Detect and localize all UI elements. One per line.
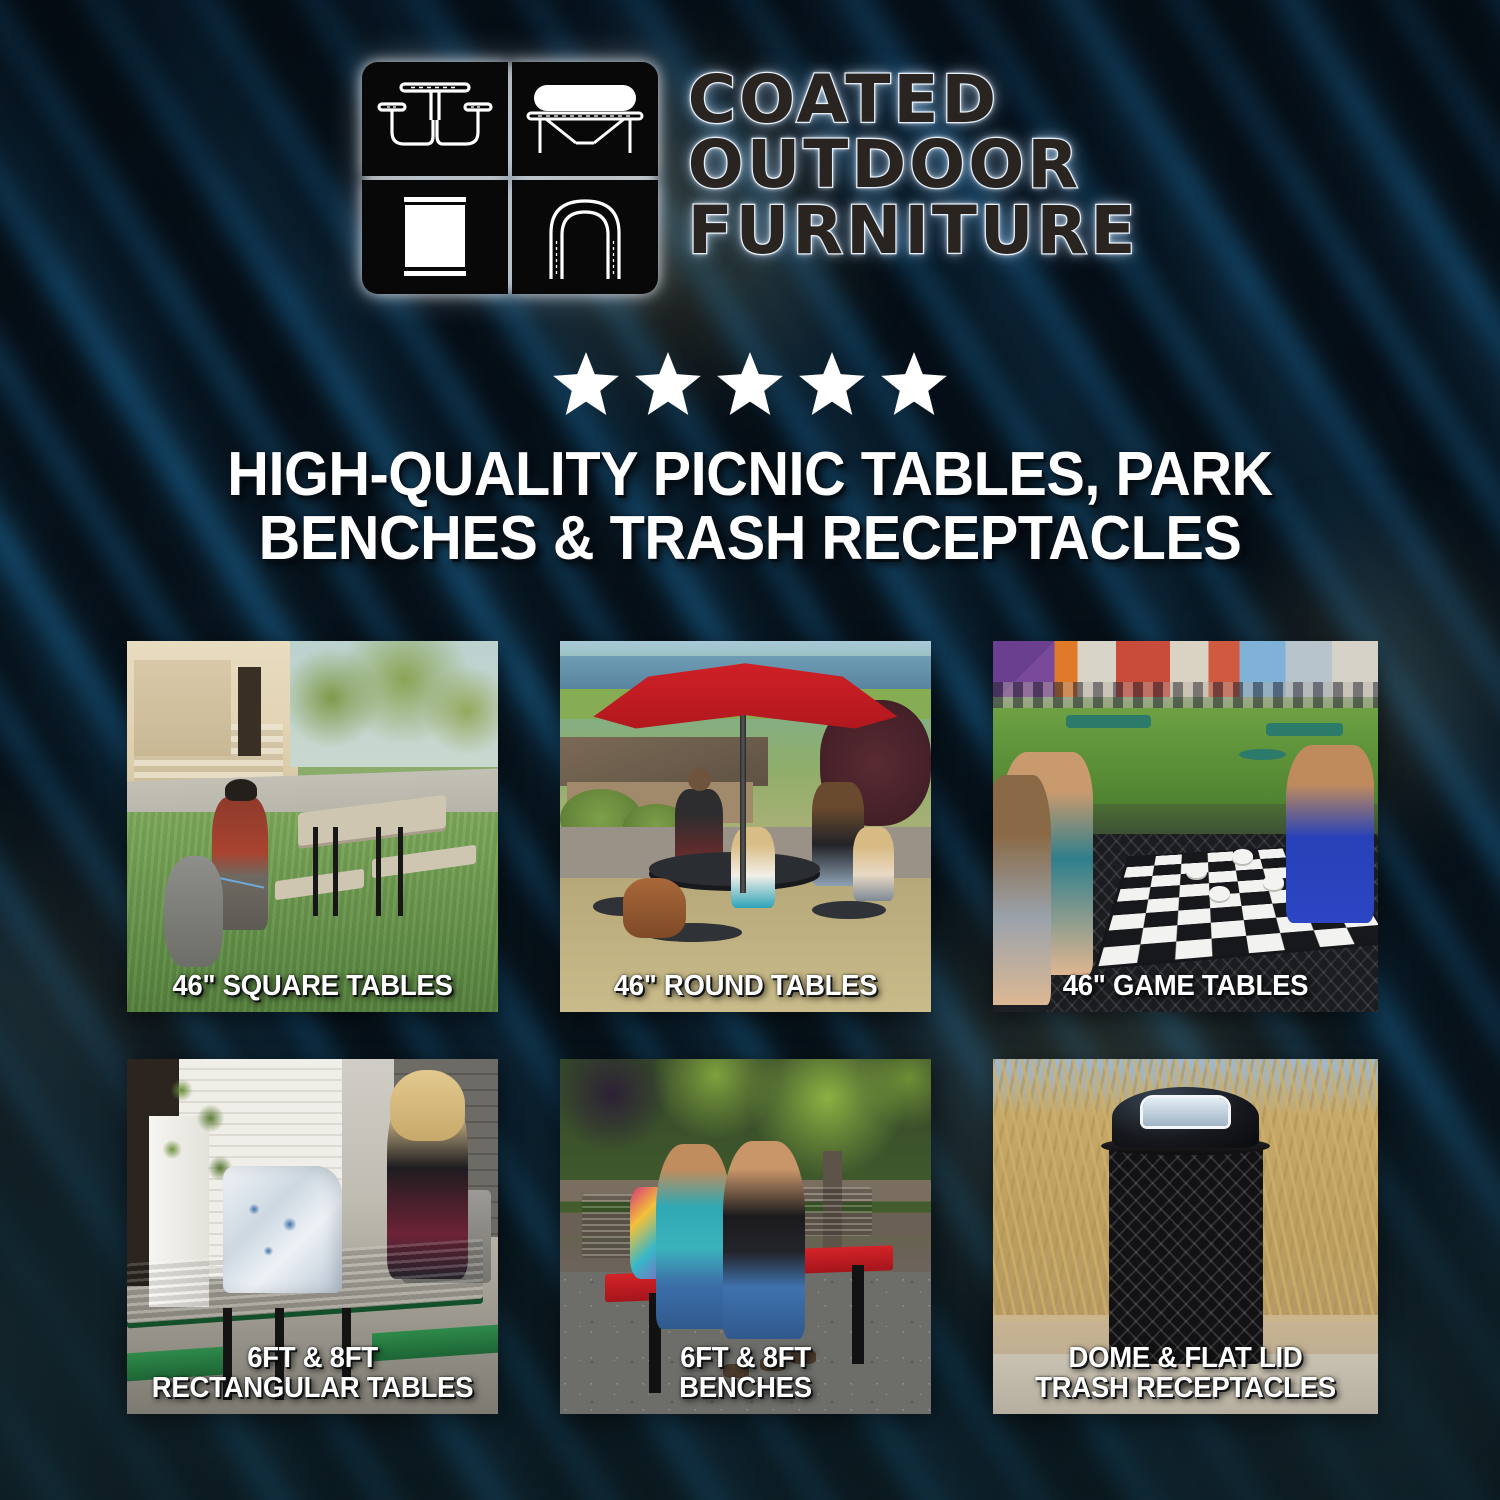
brand-lockup: COATED OUTDOOR FURNITURE <box>0 62 1500 294</box>
bench-icon <box>512 62 658 176</box>
product-caption: 46" SQUARE TABLES <box>136 971 488 1002</box>
product-tile-benches[interactable]: 6FT & 8FT BENCHES <box>560 1059 931 1414</box>
product-caption-line-1: 46" GAME TABLES <box>1008 971 1362 1002</box>
star-icon <box>717 352 783 415</box>
product-caption-line-2: RECTANGULAR TABLES <box>142 1373 483 1404</box>
headline-line-2: BENCHES & TRASH RECEPTACLES <box>108 507 1391 571</box>
picnic-table-icon <box>362 62 508 176</box>
product-tile-game-tables[interactable]: 46" GAME TABLES <box>993 641 1378 1012</box>
brand-name-line-1: COATED <box>688 68 1139 131</box>
product-photo-game-tables <box>993 641 1378 1012</box>
product-photo-round-tables <box>560 641 931 1012</box>
product-caption: 46" GAME TABLES <box>1003 971 1369 1002</box>
headline-line-1: HIGH-QUALITY PICNIC TABLES, PARK <box>227 440 1272 509</box>
star-icon <box>553 352 619 415</box>
product-tile-square-tables[interactable]: 46" SQUARE TABLES <box>127 641 498 1012</box>
arch-bike-rack-icon <box>512 180 658 294</box>
product-caption-line-2: BENCHES <box>575 1373 916 1404</box>
product-tile-trash-receptacles[interactable]: DOME & FLAT LID TRASH RECEPTACLES <box>993 1059 1378 1414</box>
brand-name-line-2: OUTDOOR <box>688 133 1139 196</box>
brand-logo-mark <box>362 62 658 294</box>
product-caption: 6FT & 8FT RECTANGULAR TABLES <box>136 1343 488 1404</box>
trash-receptacle-icon <box>362 180 508 294</box>
headline: HIGH-QUALITY PICNIC TABLES, PARK BENCHES… <box>108 443 1391 571</box>
product-caption-line-1: 46" SQUARE TABLES <box>142 971 483 1002</box>
brand-name: COATED OUTDOOR FURNITURE <box>688 62 1139 262</box>
product-tile-round-tables[interactable]: 46" ROUND TABLES <box>560 641 931 1012</box>
product-caption-line-2: TRASH RECEPTACLES <box>1008 1373 1362 1404</box>
product-caption-line-1: 6FT & 8FT <box>142 1343 483 1374</box>
promotional-poster: COATED OUTDOOR FURNITURE HIGH-QUALITY PI… <box>0 0 1500 1500</box>
product-caption-line-1: DOME & FLAT LID <box>1008 1343 1362 1374</box>
star-icon <box>635 352 701 415</box>
star-rating <box>0 352 1500 415</box>
product-caption-line-1: 46" ROUND TABLES <box>575 971 916 1002</box>
product-category-grid: 46" SQUARE TABLES 46" ROUND TABLES <box>127 641 1379 1414</box>
product-photo-square-tables <box>127 641 498 1012</box>
brand-name-line-3: FURNITURE <box>688 199 1139 262</box>
product-caption: 6FT & 8FT BENCHES <box>569 1343 921 1404</box>
product-tile-rectangular-tables[interactable]: 6FT & 8FT RECTANGULAR TABLES <box>127 1059 498 1414</box>
product-caption: 46" ROUND TABLES <box>569 971 921 1002</box>
star-icon <box>881 352 947 415</box>
product-caption: DOME & FLAT LID TRASH RECEPTACLES <box>1003 1343 1369 1404</box>
star-icon <box>799 352 865 415</box>
product-caption-line-1: 6FT & 8FT <box>575 1343 916 1374</box>
